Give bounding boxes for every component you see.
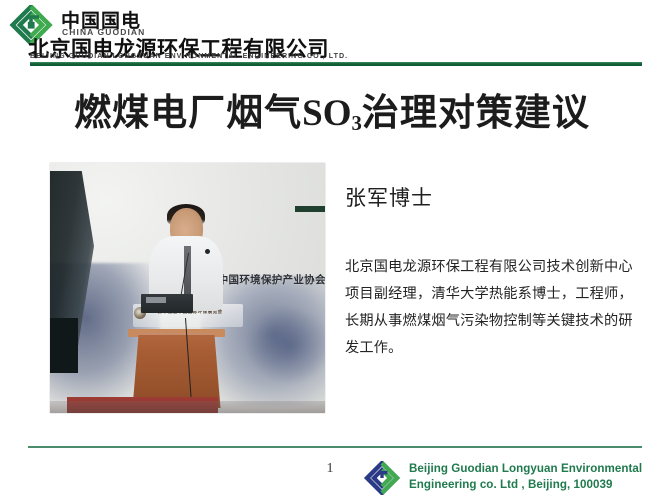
page-title: 燃煤电厂烟气SO3治理对策建议 — [0, 82, 664, 136]
photo-backdrop-org-text: 中国环境保护产业协会 — [218, 272, 325, 287]
page-number: 1 — [318, 461, 342, 477]
title-part1: 燃煤电厂烟气 — [74, 91, 302, 134]
footer-company-text: Beijing Guodian Longyuan Environmental E… — [409, 461, 659, 492]
header-divider — [30, 62, 642, 66]
photo-floor-shadow — [50, 401, 325, 414]
speaker-photo: 中国环境保护产业协会 第十五届中国国际环保展览会 — [50, 163, 325, 413]
title-formula-subscript: 3 — [352, 113, 362, 135]
speaker-name: 张军博士 — [345, 182, 433, 212]
footer-divider — [28, 446, 642, 448]
speaker-bio: 北京国电龙源环保工程有限公司技术创新中心项目副经理，清华大学热能系博士，工程师，… — [345, 254, 639, 362]
footer-line-2: Engineering co. Ltd , Beijing, 100039 — [409, 477, 659, 493]
photo-laptop-screen — [146, 297, 165, 303]
title-formula-main: SO — [302, 93, 351, 134]
photo-dark-panel-lower — [50, 318, 78, 373]
title-part2: 治理对策建议 — [362, 91, 590, 134]
guodian-longyuan-swirl-logo — [363, 461, 401, 495]
photo-green-mark — [295, 206, 325, 213]
company-name-en: BEIJING GUODIAN LONGYUAN ENVIRONMENTAL E… — [30, 51, 348, 60]
footer-line-1: Beijing Guodian Longyuan Environmental — [409, 462, 642, 475]
photo-ink-painting-far-right — [248, 308, 325, 383]
slide-header: 中国国电 CHINA GUODIAN 北京国电龙源环保工程有限公司 BEIJIN… — [0, 0, 664, 72]
